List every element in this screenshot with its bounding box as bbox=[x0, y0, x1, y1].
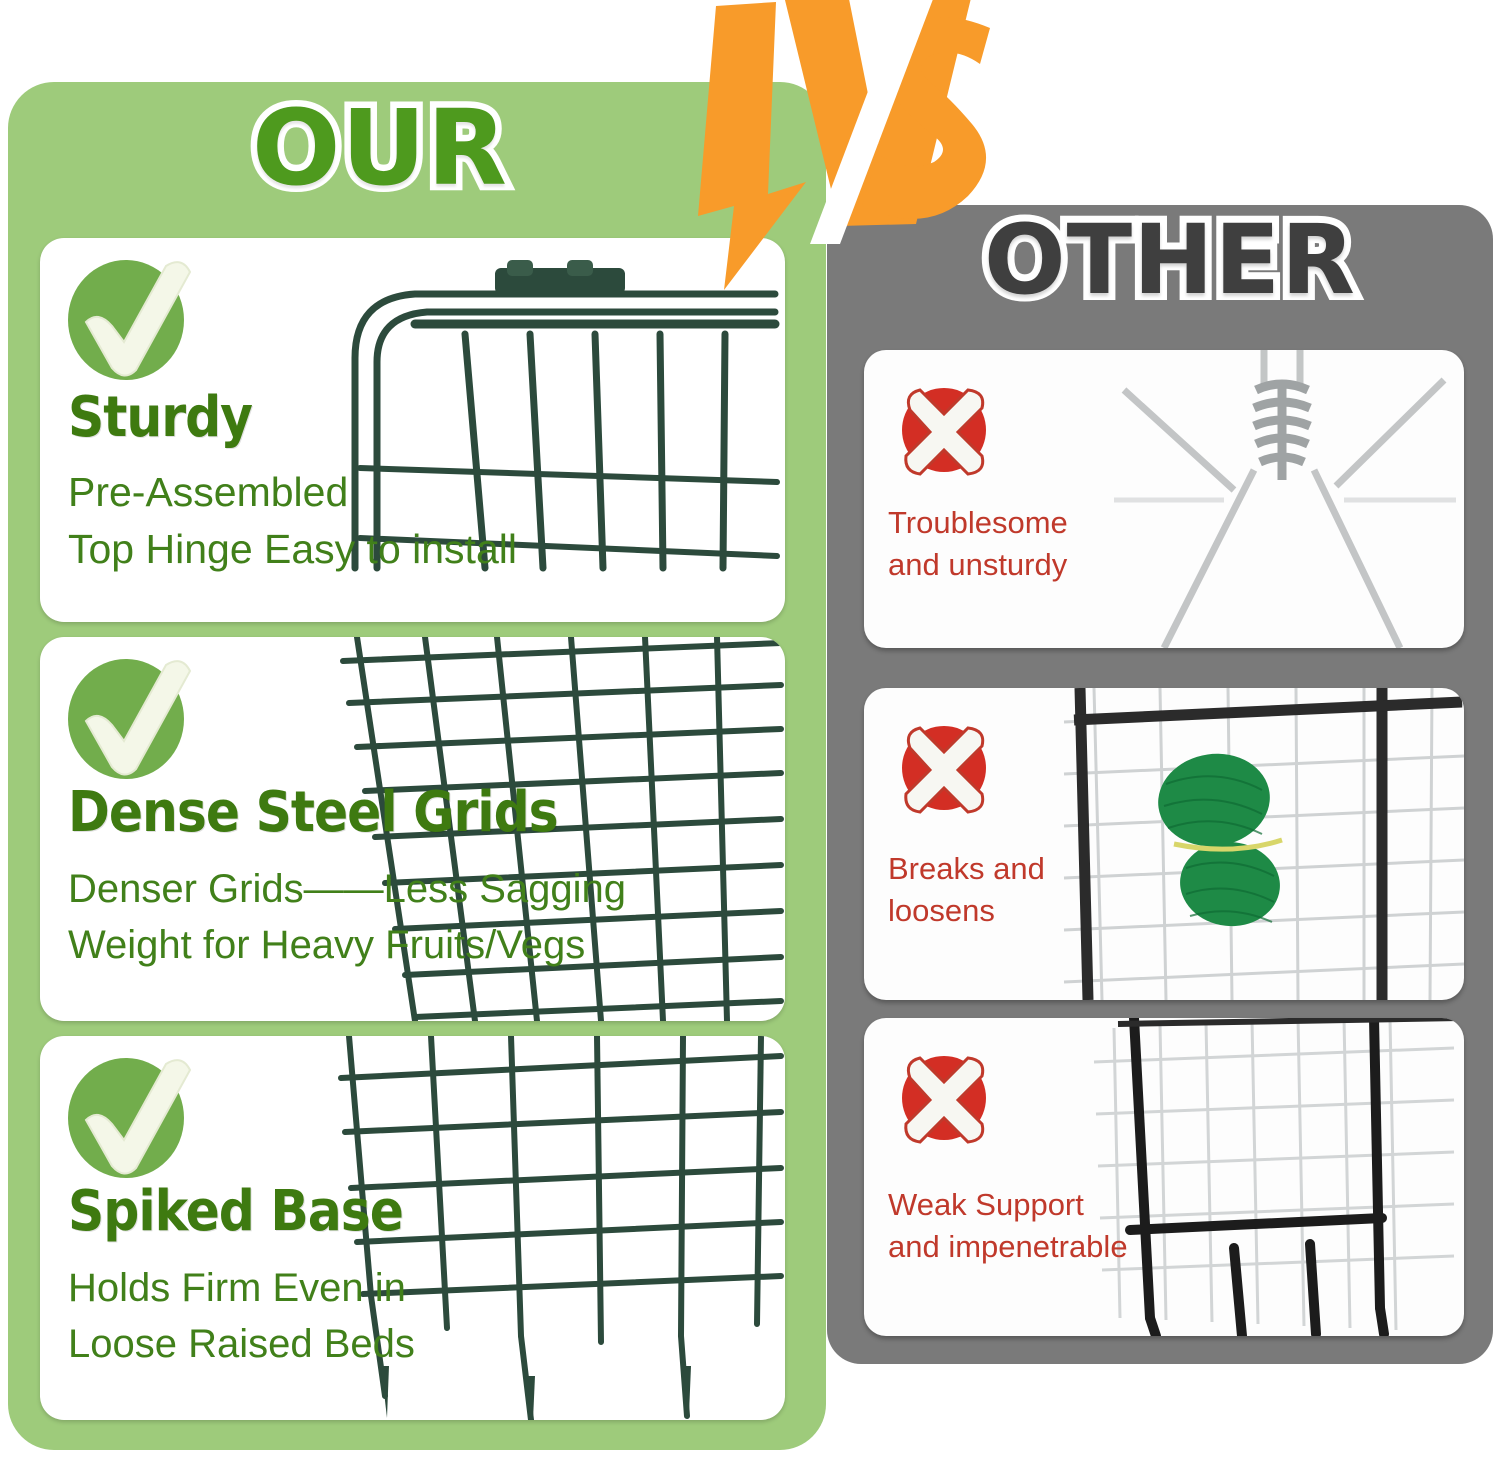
other-card-1-body: Troublesome and unsturdy bbox=[888, 502, 1068, 586]
other-drawback-card-2[interactable]: Breaks and loosens bbox=[864, 688, 1464, 1000]
other-card-1-photo bbox=[1104, 350, 1464, 648]
our-card-3-heading: Spiked Base bbox=[68, 1184, 403, 1240]
our-feature-card-3[interactable]: Spiked Base Holds Firm Even in Loose Rai… bbox=[40, 1036, 785, 1420]
our-card-1-body: Pre-Assembled Top Hinge Easy to install bbox=[68, 464, 517, 578]
our-card-2-heading: Dense Steel Grids bbox=[68, 785, 558, 841]
green-check-icon bbox=[62, 1050, 202, 1180]
our-feature-card-2[interactable]: Dense Steel Grids Denser Grids——Less Sag… bbox=[40, 637, 785, 1021]
our-card-2-body: Denser Grids——Less Sagging Weight for He… bbox=[68, 861, 626, 973]
red-x-icon bbox=[890, 376, 998, 484]
green-check-icon bbox=[62, 252, 202, 382]
vs-lightning-icon bbox=[672, 0, 1002, 294]
other-drawback-card-1[interactable]: Troublesome and unsturdy bbox=[864, 350, 1464, 648]
our-panel-title: OUR bbox=[0, 96, 760, 200]
green-check-icon bbox=[62, 651, 202, 781]
other-card-3-body: Weak Support and impenetrable bbox=[888, 1184, 1128, 1268]
red-x-icon bbox=[890, 714, 998, 822]
our-card-3-body: Holds Firm Even in Loose Raised Beds bbox=[68, 1260, 415, 1372]
other-card-3-photo bbox=[1074, 1018, 1464, 1336]
red-x-icon bbox=[890, 1044, 998, 1152]
other-card-2-photo bbox=[1064, 688, 1464, 1000]
vs-badge bbox=[672, 0, 1002, 294]
our-feature-card-1[interactable]: Sturdy Pre-Assembled Top Hinge Easy to i… bbox=[40, 238, 785, 622]
our-card-1-heading: Sturdy bbox=[68, 390, 252, 446]
other-drawback-card-3[interactable]: Weak Support and impenetrable bbox=[864, 1018, 1464, 1336]
other-card-2-body: Breaks and loosens bbox=[888, 848, 1045, 932]
